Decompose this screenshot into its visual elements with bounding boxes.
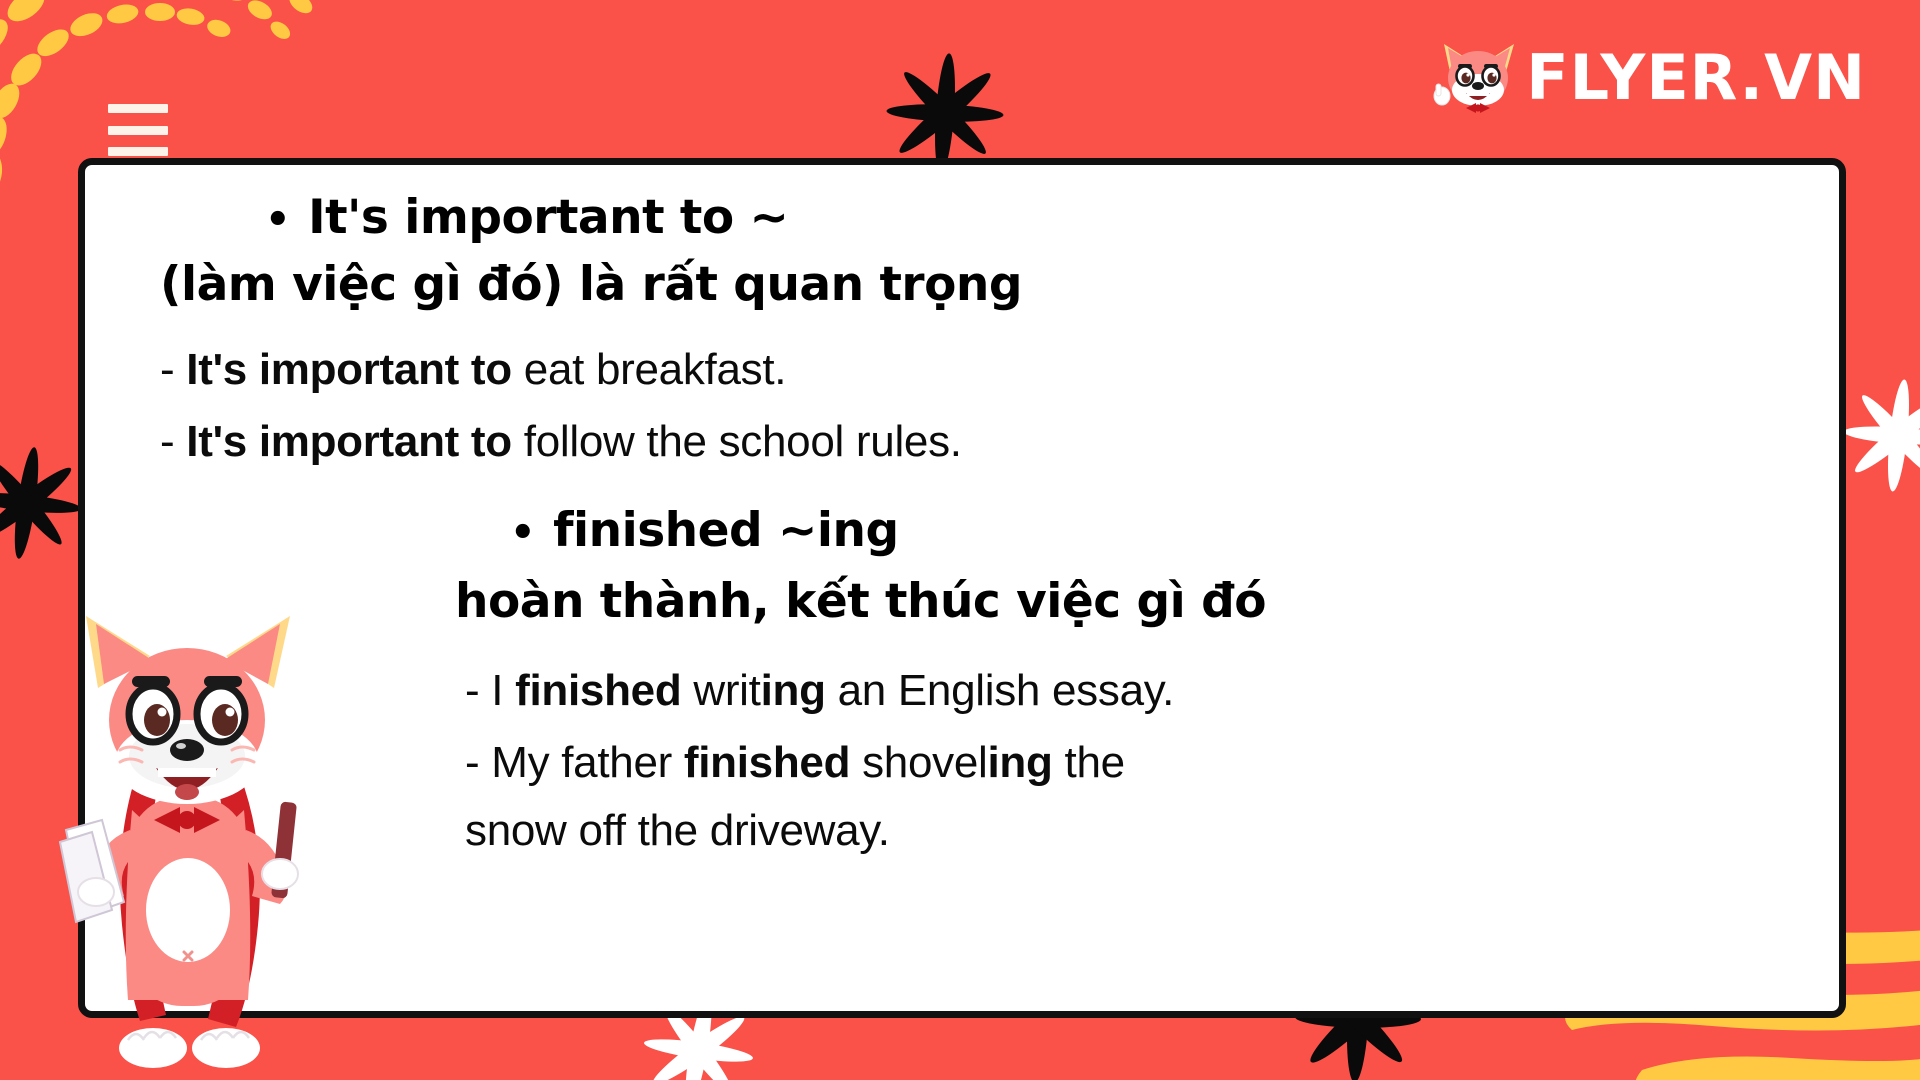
example-suffix: ing [761,666,826,715]
fox-mascot-character [58,580,316,1080]
example-dash: - [465,738,479,787]
example-keyword: finished [515,666,681,715]
section-1-example-2: - It's important to follow the school ru… [155,408,1799,476]
example-suffix: ing [988,738,1053,787]
hamburger-line [108,126,168,135]
example-keyword: finished [684,738,850,787]
section-1-heading-en-text: It's important to ~ [308,190,788,245]
slide-canvas: FLYER.VN •It's important to ~ (làm việc … [0,0,1920,1080]
example-pre: My father [479,738,684,787]
white-asterisk-icon [1836,368,1920,503]
section-finished-ing: •finished ~ing hoàn thành, kết thúc việc… [125,502,1799,865]
brand-name: FLYER.VN [1526,47,1866,109]
example-mid: shovel [850,738,987,787]
content-card: •It's important to ~ (làm việc gì đó) là… [78,158,1846,1018]
example-rest: follow the school rules. [512,417,962,466]
example-keyphrase: It's important to [186,345,512,394]
section-1-example-1: - It's important to eat breakfast. [155,336,1799,404]
section-important-to: •It's important to ~ (làm việc gì đó) là… [125,189,1799,476]
example-mid: writ [681,666,760,715]
section-2-example-1: - I finished writing an English essay. [125,657,1799,725]
fox-mascot-logo-icon [1432,38,1524,118]
hamburger-line [108,147,168,156]
example-dash: - [465,666,479,715]
bullet-icon: • [510,510,535,556]
example-rest: eat breakfast. [512,345,786,394]
section-1-heading-vi: (làm việc gì đó) là rất quan trọng [155,256,1799,313]
section-2-heading-en: •finished ~ing [125,502,1799,559]
example-post: an English essay. [826,666,1174,715]
hamburger-line [108,104,168,113]
example-keyphrase: It's important to [186,417,512,466]
section-2-heading-en-text: finished ~ing [553,503,899,558]
brand-logo[interactable]: FLYER.VN [1432,38,1866,118]
black-asterisk-icon [0,438,89,568]
hamburger-menu-icon[interactable] [108,104,168,156]
example-dash: - [160,345,174,394]
bullet-icon: • [265,197,290,243]
example-dash: - [160,417,174,466]
section-1-heading-en: •It's important to ~ [155,189,1799,246]
section-2-heading-vi: hoàn thành, kết thúc việc gì đó [125,573,1799,630]
example-pre: I [479,666,515,715]
